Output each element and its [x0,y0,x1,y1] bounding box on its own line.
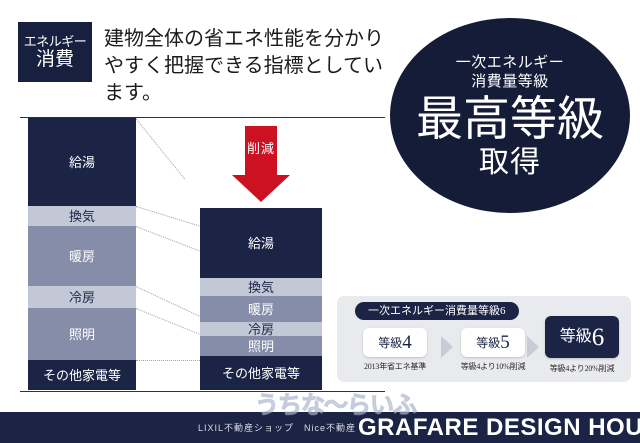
energy-comparison-chart: 給湯 換気 暖房 冷房 照明 その他家電等 給湯 換気 [0,108,385,400]
segment-label: その他家電等 [43,369,121,382]
bar-segment-shomei: 照明 [200,336,322,356]
seal-main-line1: 最高等級 [416,94,604,146]
bar-segment-danbo: 暖房 [200,296,322,322]
grade-box: 等級5 [461,328,525,357]
header-description: 建物全体の省エネ性能を分かりやすく把握できる指標としています。 [104,26,384,107]
bar-segment-reibo: 冷房 [28,286,136,308]
bar-segment-kanki: 換気 [28,206,136,226]
connector-line [136,226,200,251]
bar-segment-reibo: 冷房 [200,322,322,336]
grade-caption: 2013年省エネ基準 [349,361,441,372]
bar-segment-kyuto: 給湯 [200,208,322,278]
segment-label: 暖房 [248,303,274,316]
connector-line [136,206,199,226]
connector-line [135,118,185,179]
reduction-arrow-icon: 削減 [232,126,290,202]
segment-label: 照明 [69,328,95,341]
grade-prefix: 等級 [378,337,402,349]
grade-box-highlight: 等級6 [545,316,619,358]
infographic-root: エネルギー 消費 建物全体の省エネ性能を分かりやすく把握できる指標としています。… [0,0,640,443]
seal-subtitle-line2: 消費量等級 [471,73,549,92]
energy-badge-line1: エネルギー [24,34,87,49]
bar-this-house: 給湯 換気 暖房 冷房 照明 その他家電等 [200,208,322,390]
bar-segment-sonota: その他家電等 [200,356,322,390]
grade-number: 6 [592,325,605,350]
grade-number: 4 [402,333,412,352]
grade-panel-pill-label: 一次エネルギー消費量等級6 [355,302,519,320]
segment-label: その他家電等 [222,367,300,380]
bar-segment-shomei: 照明 [28,308,136,360]
bar-reference: 給湯 換気 暖房 冷房 照明 その他家電等 [28,118,136,390]
arrow-head [232,175,290,202]
segment-label: 冷房 [69,291,95,304]
segment-label: 給湯 [69,156,95,169]
segment-label: 換気 [69,210,95,223]
seal-subtitle-line1: 一次エネルギー [456,54,565,73]
grade-step-6: 等級6 等級4より20%削減 [533,316,631,374]
grade-step-4: 等級4 2013年省エネ基準 [349,328,441,372]
energy-consumption-badge: エネルギー 消費 [18,22,92,82]
grade-prefix: 等級 [560,329,592,345]
grade-progression-panel: 一次エネルギー消費量等級6 等級4 2013年省エネ基準 等級5 等級4より10… [337,296,631,382]
grade-caption: 等級4より20%削減 [533,363,631,374]
bar-segment-kanki: 換気 [200,278,322,296]
segment-label: 給湯 [248,237,274,250]
segment-label: 換気 [248,281,274,294]
segment-label: 暖房 [69,250,95,263]
energy-badge-line2: 消費 [36,49,74,71]
grade-box: 等級4 [363,328,427,357]
grade-number: 5 [500,333,510,352]
seal-main-line2: 取得 [479,146,541,179]
bar-segment-sonota: その他家電等 [28,360,136,390]
segment-label: 冷房 [248,323,274,336]
bar-segment-danbo: 暖房 [28,226,136,286]
footer-shop-text: LIXIL不動産ショップ Nice不動産 [198,421,356,434]
grade-prefix: 等級 [476,337,500,349]
bar-segment-kyuto: 給湯 [28,118,136,206]
top-grade-seal: 一次エネルギー 消費量等級 最高等級 取得 [390,18,630,213]
connector-line [136,360,202,361]
footer-brand-logo: GRAFARE DESIGN HOUSE [358,414,640,441]
segment-label: 照明 [248,340,274,353]
grade-caption: 等級4より10%削減 [441,361,545,372]
reduction-label: 削減 [232,138,290,157]
